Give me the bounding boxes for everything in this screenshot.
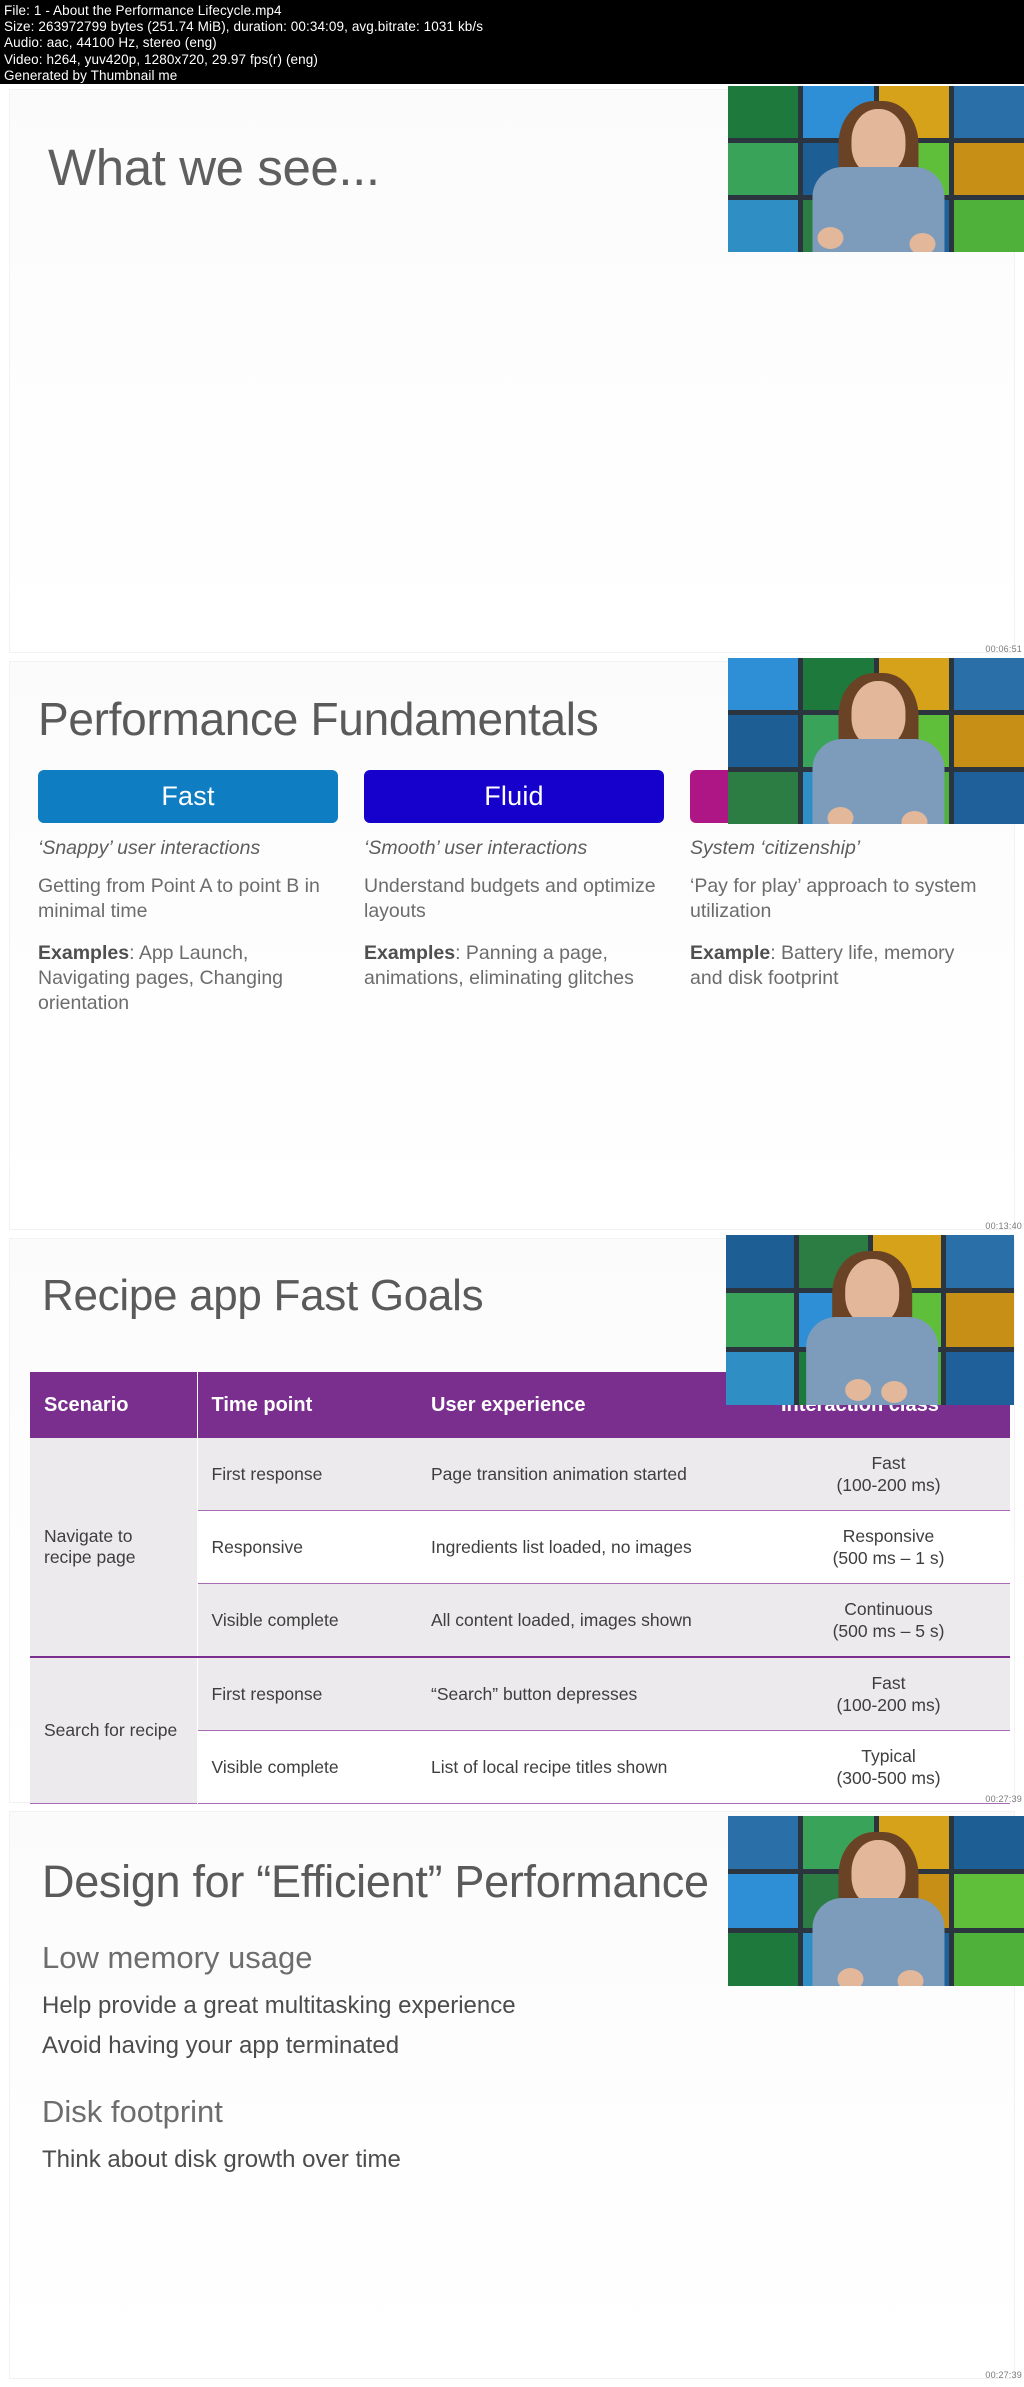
card-examples-label: Example: [690, 942, 770, 964]
cell-time-point: Visible complete: [197, 1584, 417, 1658]
cell-user-experience: All content loaded, images shown: [417, 1584, 767, 1658]
cell-interaction-class: Typical (300-500 ms): [767, 1731, 1010, 1804]
cell-user-experience: List of local recipe titles shown: [417, 1731, 767, 1804]
cell-interaction-class: Fast (100-200 ms): [767, 1438, 1010, 1511]
info-line-file: File: 1 - About the Performance Lifecycl…: [4, 3, 1020, 19]
slide-title: Recipe app Fast Goals: [42, 1271, 483, 1321]
slide-thumbnail-performance-fundamentals[interactable]: Performance Fundamentals Fast ‘Snappy’ u…: [0, 656, 1024, 1233]
section-point: Help provide a great multitasking experi…: [42, 1992, 516, 2020]
presenter-video-overlay: [728, 1816, 1024, 1986]
interaction-class-range: (500 ms – 1 s): [833, 1548, 945, 1568]
interaction-class-name: Fast: [871, 1673, 905, 1693]
card-title: Fast: [161, 781, 214, 812]
cell-user-experience: Page transition animation started: [417, 1438, 767, 1511]
table-row[interactable]: Search for recipe First response “Search…: [30, 1657, 1010, 1731]
cell-time-point: First response: [197, 1438, 417, 1511]
presenter-video-overlay: [728, 86, 1024, 252]
card-title: Fluid: [484, 781, 544, 812]
video-info-header: File: 1 - About the Performance Lifecycl…: [0, 0, 1024, 84]
presenter-figure: [813, 109, 943, 252]
slide-timestamp: 00:27:39: [985, 1794, 1022, 1804]
cell-time-point: First response: [197, 1657, 417, 1731]
card-examples: Examples: App Launch, Navigating pages, …: [38, 941, 338, 1016]
card-examples: Examples: Panning a page, animations, el…: [364, 941, 664, 991]
slide-title: What we see...: [48, 138, 380, 197]
table-row[interactable]: Navigate to recipe page First response P…: [30, 1438, 1010, 1511]
card-fluid[interactable]: Fluid ‘Smooth’ user interactions Underst…: [364, 770, 664, 1016]
slide-timestamp: 00:06:51: [985, 644, 1022, 654]
slide-thumbnail-design-for-efficient-performance[interactable]: Design for “Efficient” Performance Low m…: [0, 1806, 1024, 2382]
cell-scenario: Navigate to recipe page: [30, 1438, 197, 1657]
section-point: Avoid having your app terminated: [42, 2032, 399, 2060]
table-body: Navigate to recipe page First response P…: [30, 1438, 1010, 1804]
info-line-video: Video: h264, yuv420p, 1280x720, 29.97 fp…: [4, 52, 1020, 68]
interaction-class-range: (500 ms – 5 s): [833, 1621, 945, 1641]
card-examples-label: Examples: [364, 942, 455, 964]
slide-title: Performance Fundamentals: [38, 692, 598, 746]
card-body: Getting from Point A to point B in minim…: [38, 874, 338, 924]
presenter-figure: [813, 1840, 943, 1986]
presenter-figure: [813, 681, 943, 824]
fast-goals-table: Scenario Time point User experience Inte…: [30, 1372, 1010, 1804]
section-heading-disk-footprint: Disk footprint: [42, 2094, 223, 2130]
card-header-fluid: Fluid: [364, 770, 664, 823]
column-header-scenario: Scenario: [30, 1372, 197, 1438]
section-heading-low-memory-usage: Low memory usage: [42, 1940, 313, 1976]
slide-timestamp: 00:13:40: [985, 1221, 1022, 1231]
slide-timestamp: 00:27:39: [985, 2370, 1022, 2380]
cell-interaction-class: Responsive (500 ms – 1 s): [767, 1511, 1010, 1584]
interaction-class-name: Fast: [871, 1453, 905, 1473]
column-header-time-point: Time point: [197, 1372, 417, 1438]
cell-scenario: Search for recipe: [30, 1657, 197, 1804]
interaction-class-name: Continuous: [844, 1599, 933, 1619]
info-line-generator: Generated by Thumbnail me: [4, 68, 1020, 84]
card-subtitle: ‘Smooth’ user interactions: [364, 837, 664, 860]
cell-interaction-class: Continuous (500 ms – 5 s): [767, 1584, 1010, 1658]
card-header-fast: Fast: [38, 770, 338, 823]
thumbnail-sheet: What we see... 00:06:51 Performance Fund…: [0, 84, 1024, 2382]
section-point: Think about disk growth over time: [42, 2146, 401, 2174]
card-fast[interactable]: Fast ‘Snappy’ user interactions Getting …: [38, 770, 338, 1016]
card-subtitle: System ‘citizenship’: [690, 837, 990, 860]
cell-interaction-class: Fast (100-200 ms): [767, 1657, 1010, 1731]
presenter-video-overlay: [726, 1235, 1014, 1405]
interaction-class-range: (100-200 ms): [836, 1475, 940, 1495]
interaction-class-range: (100-200 ms): [836, 1695, 940, 1715]
presenter-figure: [809, 1259, 936, 1405]
info-line-audio: Audio: aac, 44100 Hz, stereo (eng): [4, 35, 1020, 51]
slide-title: Design for “Efficient” Performance: [42, 1856, 709, 1908]
column-header-user-experience: User experience: [417, 1372, 767, 1438]
info-line-size: Size: 263972799 bytes (251.74 MiB), dura…: [4, 19, 1020, 35]
interaction-class-name: Responsive: [843, 1526, 934, 1546]
card-body: ‘Pay for play’ approach to system utiliz…: [690, 874, 990, 924]
cell-time-point: Responsive: [197, 1511, 417, 1584]
interaction-class-range: (300-500 ms): [836, 1768, 940, 1788]
presenter-video-overlay: [728, 658, 1024, 824]
card-body: Understand budgets and optimize layouts: [364, 874, 664, 924]
card-examples-label: Examples: [38, 942, 129, 964]
cell-time-point: Visible complete: [197, 1731, 417, 1804]
cell-user-experience: Ingredients list loaded, no images: [417, 1511, 767, 1584]
interaction-class-name: Typical: [861, 1746, 915, 1766]
card-examples: Example: Battery life, memory and disk f…: [690, 941, 990, 991]
cell-user-experience: “Search” button depresses: [417, 1657, 767, 1731]
slide-thumbnail-recipe-app-fast-goals[interactable]: Recipe app Fast Goals Scenario Time poin…: [0, 1233, 1024, 1806]
slide-thumbnail-what-we-see[interactable]: What we see... 00:06:51: [0, 84, 1024, 656]
card-subtitle: ‘Snappy’ user interactions: [38, 837, 338, 860]
